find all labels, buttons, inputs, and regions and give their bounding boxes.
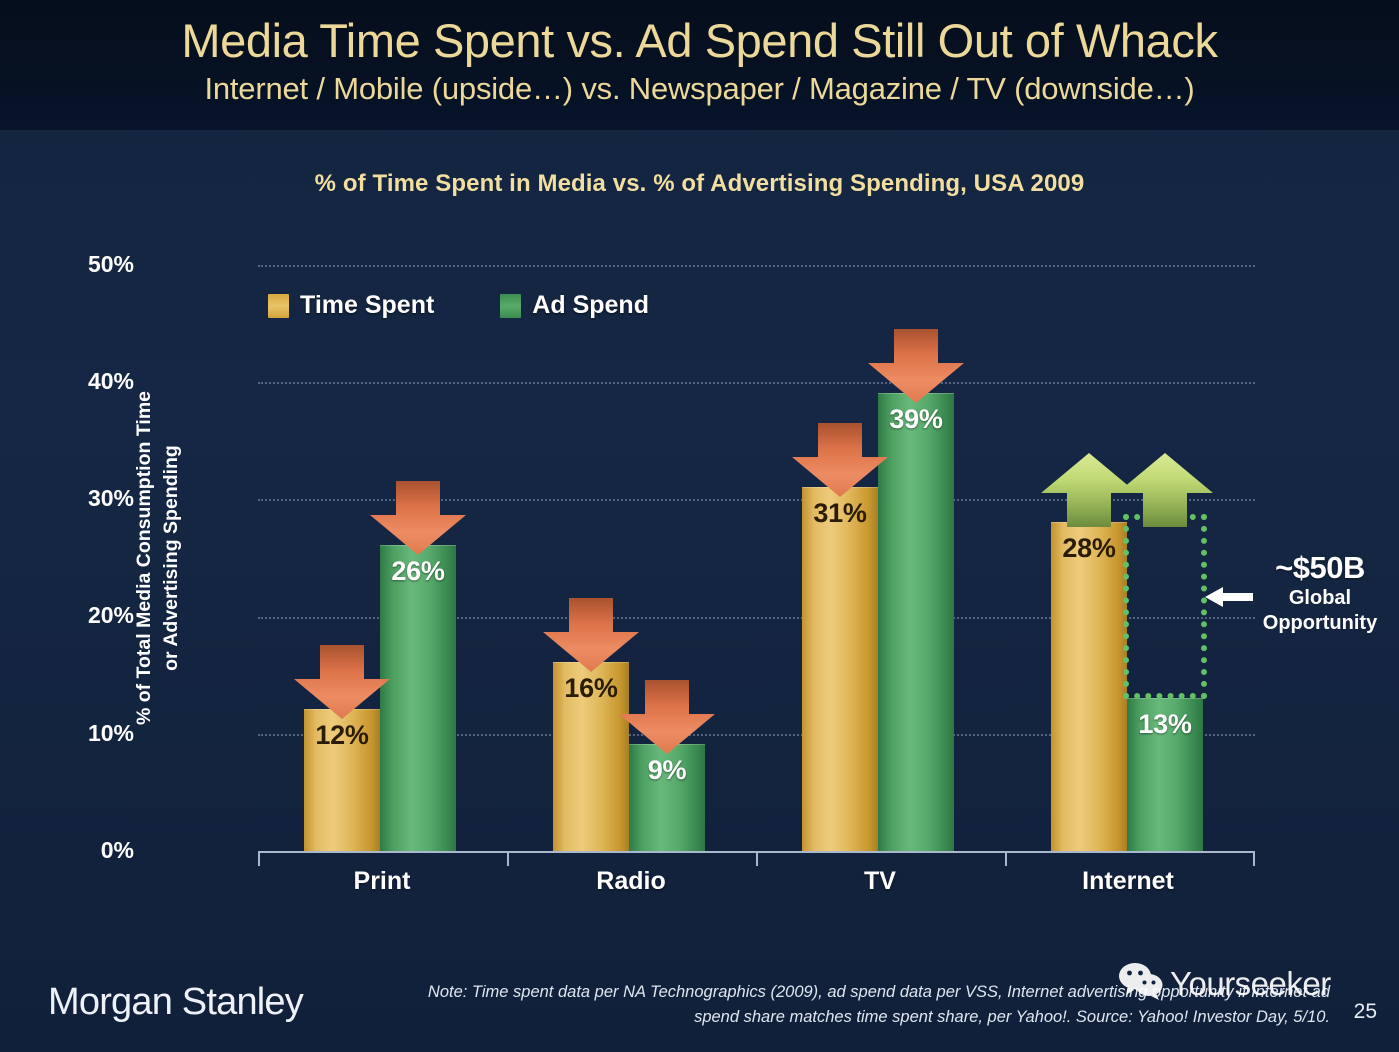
y-tick-10: 10% xyxy=(14,720,134,747)
x-label-print: Print xyxy=(272,867,492,896)
y-tick-50: 50% xyxy=(14,251,134,278)
bar-label-tv-time-spent: 31% xyxy=(802,498,878,529)
bar-tv-ad-spend[interactable]: 39% xyxy=(878,393,954,851)
bar-radio-ad-spend[interactable]: 9% xyxy=(629,744,705,851)
x-label-tv: TV xyxy=(770,867,990,896)
slide-header-band: Media Time Spent vs. Ad Spend Still Out … xyxy=(0,0,1399,130)
x-label-radio: Radio xyxy=(521,867,741,896)
bar-internet-ad-spend[interactable]: 13% xyxy=(1127,698,1203,851)
down-arrow-print-ad-spend xyxy=(370,481,466,555)
bar-label-tv-ad-spend: 39% xyxy=(878,404,954,435)
bar-label-internet-ad-spend: 13% xyxy=(1127,709,1203,740)
y-tick-30: 30% xyxy=(14,485,134,512)
page-number: 25 xyxy=(1354,1000,1377,1024)
down-arrow-tv-ad-spend xyxy=(868,329,964,403)
down-arrow-print-time-spent xyxy=(294,645,390,719)
callout-line-global: Global xyxy=(1245,586,1395,611)
bar-label-radio-time-spent: 16% xyxy=(553,673,629,704)
opportunity-dotted-box xyxy=(1123,514,1207,699)
legend-swatch-ad-spend xyxy=(500,294,521,318)
down-arrow-radio-ad-spend xyxy=(619,680,715,754)
x-tick-radio-tv xyxy=(756,851,758,866)
slide-canvas: Media Time Spent vs. Ad Spend Still Out … xyxy=(0,0,1399,1052)
bar-label-print-ad-spend: 26% xyxy=(380,556,456,587)
legend-label-time-spent: Time Spent xyxy=(300,291,434,320)
y-axis-title-line2: or Advertising Spending xyxy=(159,445,184,671)
slide-subtitle: Internet / Mobile (upside…) vs. Newspape… xyxy=(0,69,1399,108)
x-tick-end xyxy=(1253,851,1255,866)
legend-label-ad-spend: Ad Spend xyxy=(532,291,649,320)
y-axis-title: % of Total Media Consumption Time or Adv… xyxy=(123,265,193,851)
x-tick-tv-internet xyxy=(1005,851,1007,866)
up-arrow-internet-ad-spend xyxy=(1117,453,1213,527)
down-arrow-tv-time-spent xyxy=(792,423,888,497)
x-axis-line xyxy=(258,851,1255,853)
plot-area: % of Total Media Consumption Time or Adv… xyxy=(258,265,1255,851)
chart-legend: Time Spent Ad Spend xyxy=(268,291,649,320)
y-tick-0: 0% xyxy=(14,837,134,864)
legend-item-ad-spend[interactable]: Ad Spend xyxy=(500,291,649,320)
footnote: Note: Time spent data per NA Technograph… xyxy=(310,980,1330,1030)
bar-print-time-spent[interactable]: 12% xyxy=(304,709,380,851)
footnote-line-1: Note: Time spent data per NA Technograph… xyxy=(310,980,1330,1005)
callout-line-opportunity: Opportunity xyxy=(1245,611,1395,636)
gridline-40 xyxy=(258,382,1255,384)
bar-print-ad-spend[interactable]: 26% xyxy=(380,545,456,851)
chart-title: % of Time Spent in Media vs. % of Advert… xyxy=(0,170,1399,198)
y-axis-title-line1: % of Total Media Consumption Time xyxy=(132,391,157,725)
x-tick-start xyxy=(258,851,260,866)
x-tick-print-radio xyxy=(507,851,509,866)
callout-amount: ~$50B xyxy=(1245,550,1395,586)
x-label-internet: Internet xyxy=(1018,867,1238,896)
bar-label-radio-ad-spend: 9% xyxy=(629,755,705,786)
legend-item-time-spent[interactable]: Time Spent xyxy=(268,291,434,320)
bar-radio-time-spent[interactable]: 16% xyxy=(553,662,629,851)
morgan-stanley-logo: Morgan Stanley xyxy=(48,981,303,1024)
bar-label-internet-time-spent: 28% xyxy=(1051,533,1127,564)
legend-swatch-time-spent xyxy=(268,294,289,318)
gridline-50 xyxy=(258,265,1255,267)
y-tick-20: 20% xyxy=(14,602,134,629)
footnote-line-2: spend share matches time spent share, pe… xyxy=(310,1005,1330,1030)
bar-tv-time-spent[interactable]: 31% xyxy=(802,487,878,851)
down-arrow-radio-time-spent xyxy=(543,598,639,672)
bar-label-print-time-spent: 12% xyxy=(304,720,380,751)
bar-internet-time-spent[interactable]: 28% xyxy=(1051,522,1127,851)
slide-title: Media Time Spent vs. Ad Spend Still Out … xyxy=(0,0,1399,69)
y-tick-40: 40% xyxy=(14,368,134,395)
opportunity-callout: ~$50B Global Opportunity xyxy=(1245,550,1395,636)
